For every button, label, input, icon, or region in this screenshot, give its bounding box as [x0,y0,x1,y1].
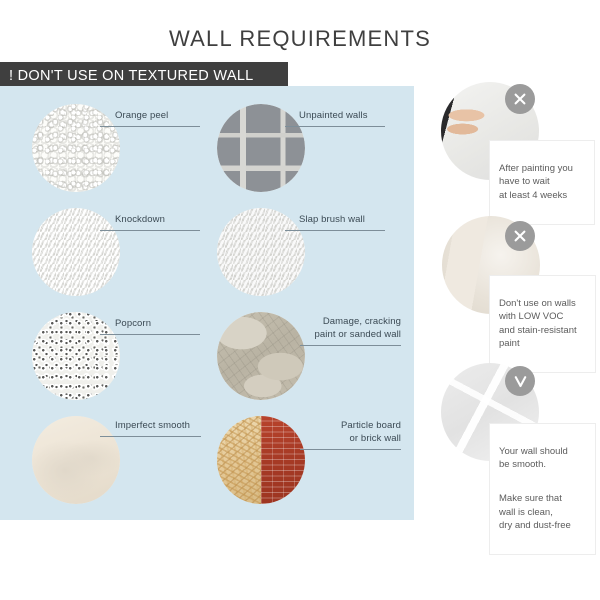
texture-label: Unpainted walls [299,110,399,123]
label-underline [285,230,385,231]
tip-text-box: Your wall should be smooth. Make sure th… [489,423,596,555]
cross-icon [505,84,535,114]
popcorn-swatch [32,312,120,400]
knockdown-swatch [32,208,120,296]
tip-line: Don't use on walls with LOW VOC and stai… [499,297,586,351]
cross-icon [505,221,535,251]
tip-text-box: After painting you have to wait at least… [489,140,595,225]
label-underline [300,449,401,450]
texture-label: Popcorn [115,318,210,331]
texture-label: Imperfect smooth [115,420,215,433]
texture-label: Damage, cracking paint or sanded wall [287,316,401,341]
label-underline [300,345,401,346]
texture-label: Orange peel [115,110,210,123]
label-underline [100,436,201,437]
label-underline [100,230,200,231]
tip-line: Your wall should be smooth. [499,445,586,472]
label-underline [100,334,200,335]
texture-label: Particle board or brick wall [290,420,401,445]
label-underline [100,126,200,127]
tip-line: After painting you have to wait at least… [499,162,585,203]
page-title: WALL REQUIREMENTS [0,26,600,52]
check-icon [505,366,535,396]
tip-text-box: Don't use on walls with LOW VOC and stai… [489,275,596,373]
tip-line: Make sure that wall is clean, dry and du… [499,492,586,533]
label-underline [285,126,385,127]
texture-label: Knockdown [115,214,210,227]
orange-peel-swatch [32,104,120,192]
slap-brush-swatch [217,208,305,296]
unpainted-walls-swatch [217,104,305,192]
texture-label: Slap brush wall [299,214,399,227]
imperfect-smooth-swatch [32,416,120,504]
